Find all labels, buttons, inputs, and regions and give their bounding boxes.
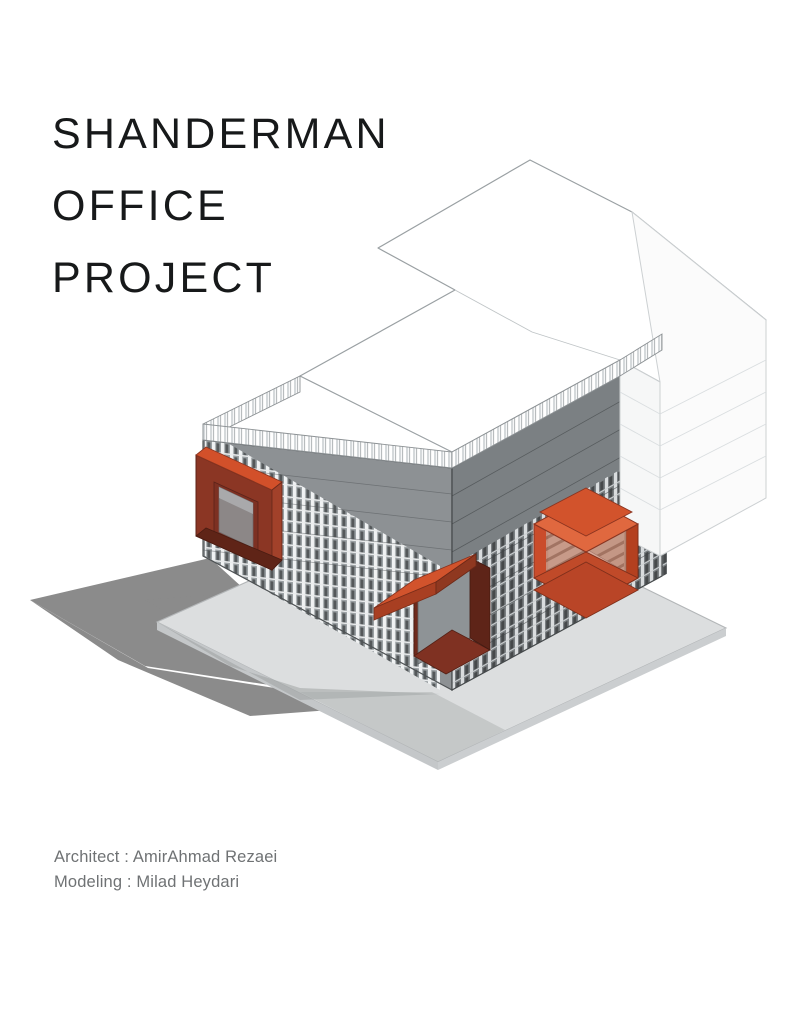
credit-architect: Architect : AmirAhmad Rezaei: [54, 845, 277, 870]
credits: Architect : AmirAhmad Rezaei Modeling : …: [54, 845, 277, 895]
page-title: SHANDERMAN OFFICE PROJECT: [52, 98, 390, 314]
title-line-2: OFFICE: [52, 170, 390, 242]
title-line-3: PROJECT: [52, 242, 390, 314]
poster-canvas: SHANDERMAN OFFICE PROJECT Architect : Am…: [0, 0, 810, 1013]
credit-modeling: Modeling : Milad Heydari: [54, 870, 277, 895]
title-line-1: SHANDERMAN: [52, 98, 390, 170]
